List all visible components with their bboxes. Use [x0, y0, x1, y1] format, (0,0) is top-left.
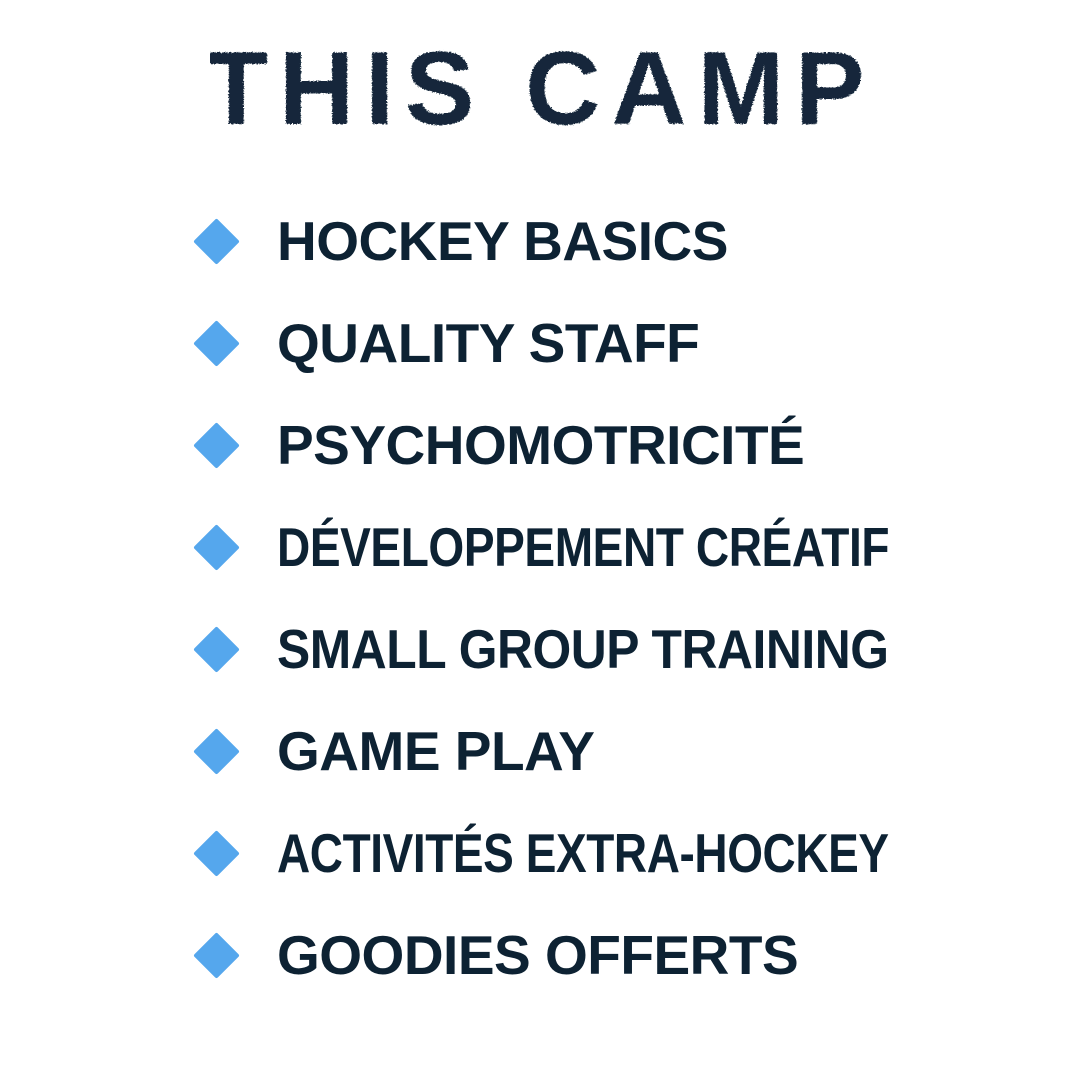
- feature-label: SMALL GROUP TRAINING: [277, 622, 831, 677]
- diamond-icon: [193, 830, 240, 877]
- feature-list: HOCKEY BASICS QUALITY STAFF PSYCHOMOTRIC…: [0, 190, 1080, 1006]
- diamond-icon: [193, 320, 240, 367]
- feature-list-item[interactable]: QUALITY STAFF: [0, 292, 1080, 394]
- diamond-icon: [193, 524, 240, 571]
- camp-feature-poster: THIS CAMP HOCKEY BASICS QUALITY STAFF PS…: [0, 0, 1080, 1080]
- feature-list-item[interactable]: GOODIES OFFERTS: [0, 904, 1080, 1006]
- diamond-icon: [193, 626, 240, 673]
- diamond-icon: [193, 932, 240, 979]
- feature-list-item[interactable]: PSYCHOMOTRICITÉ: [0, 394, 1080, 496]
- poster-title-area: THIS CAMP: [0, 34, 1080, 164]
- poster-title-graphic: THIS CAMP: [210, 44, 870, 154]
- feature-list-item[interactable]: SMALL GROUP TRAINING: [0, 598, 1080, 700]
- feature-label: GAME PLAY: [277, 724, 594, 779]
- feature-list-item[interactable]: GAME PLAY: [0, 700, 1080, 802]
- feature-label: QUALITY STAFF: [277, 316, 699, 371]
- feature-label: PSYCHOMOTRICITÉ: [277, 418, 804, 473]
- poster-title-text: THIS CAMP: [210, 44, 870, 147]
- feature-label: HOCKEY BASICS: [277, 214, 728, 269]
- diamond-icon: [193, 422, 240, 469]
- feature-list-item[interactable]: DÉVELOPPEMENT CRÉATIF: [0, 496, 1080, 598]
- feature-label: ACTIVITÉS EXTRA-HOCKEY: [277, 826, 789, 881]
- feature-label: GOODIES OFFERTS: [277, 928, 798, 983]
- feature-list-item[interactable]: HOCKEY BASICS: [0, 190, 1080, 292]
- feature-list-item[interactable]: ACTIVITÉS EXTRA-HOCKEY: [0, 802, 1080, 904]
- feature-label: DÉVELOPPEMENT CRÉATIF: [277, 520, 789, 575]
- diamond-icon: [193, 218, 240, 265]
- diamond-icon: [193, 728, 240, 775]
